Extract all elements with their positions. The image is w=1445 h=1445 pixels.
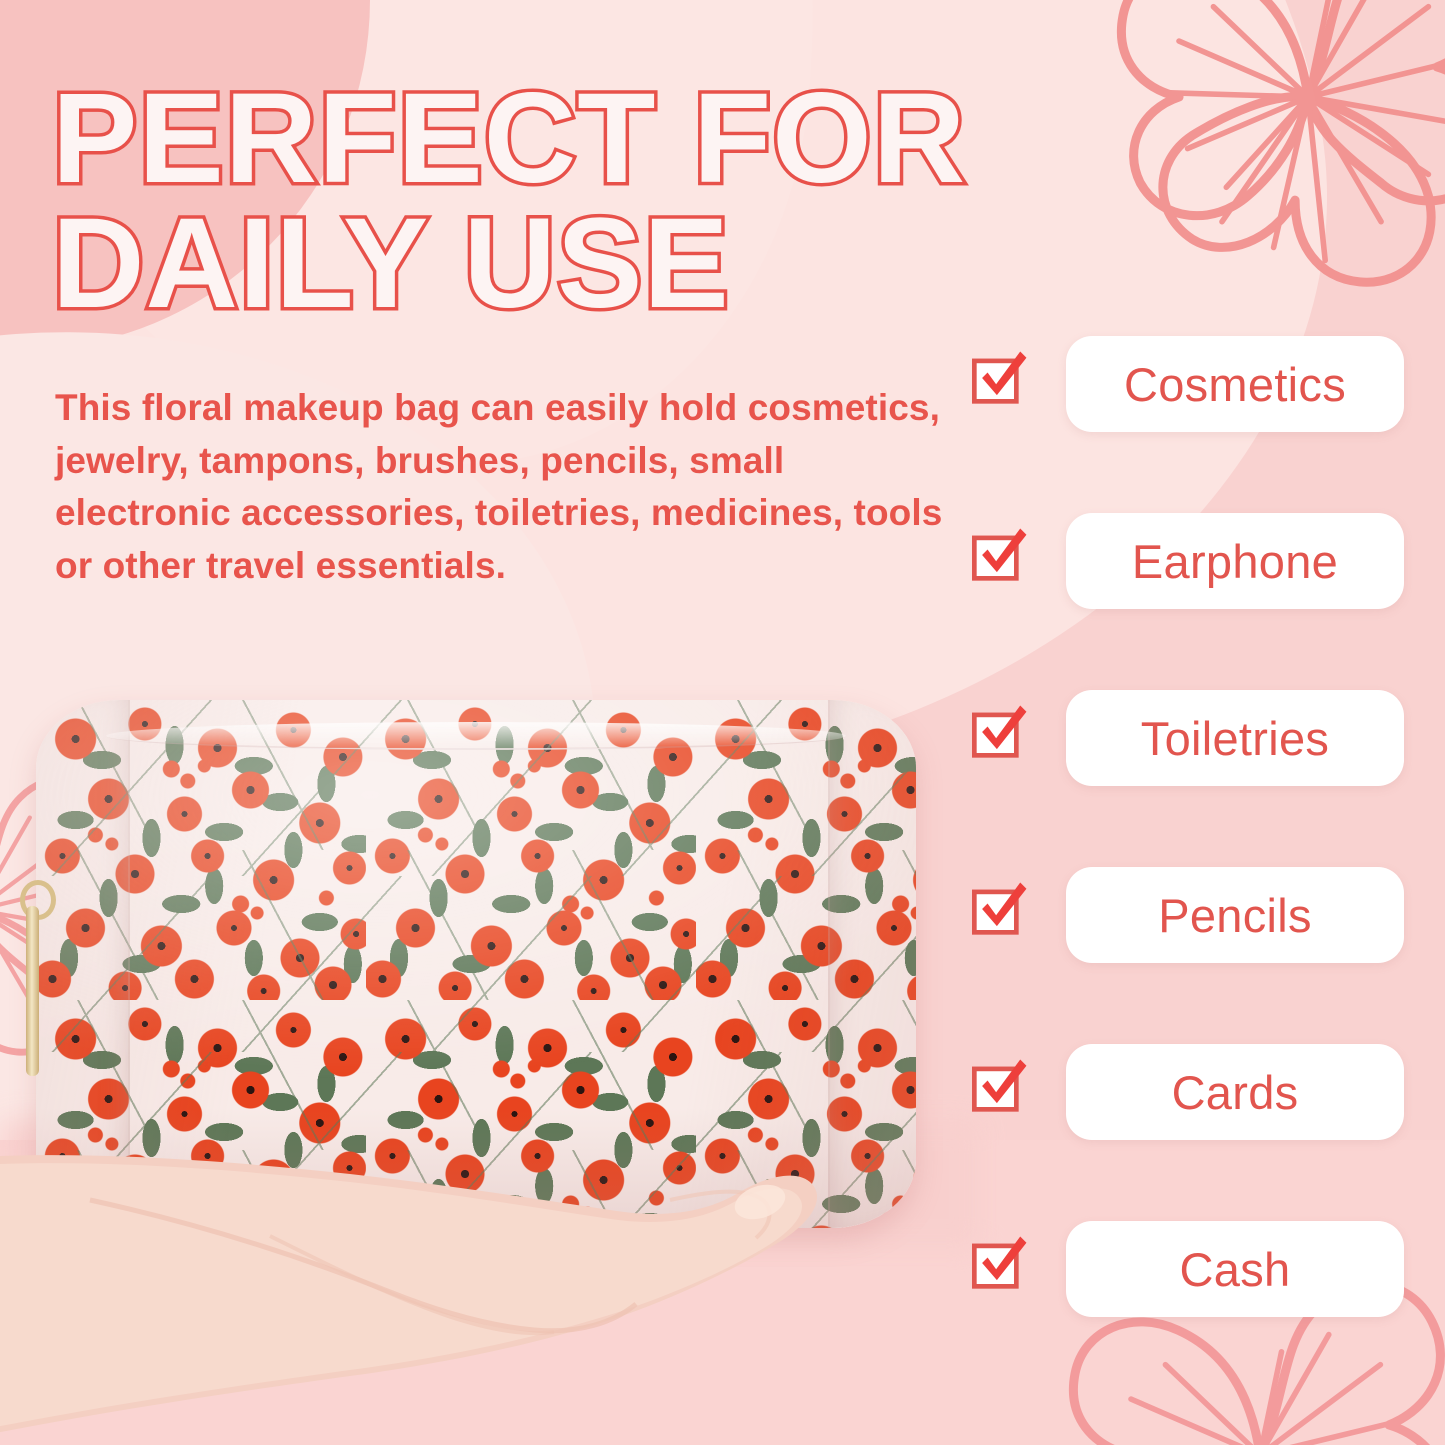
checklist-item[interactable]: Toiletries xyxy=(962,690,1412,867)
checklist-item-pill[interactable]: Toiletries xyxy=(1066,690,1404,786)
checklist-item-label: Pencils xyxy=(1158,892,1312,939)
product-description: This floral makeup bag can easily hold c… xyxy=(55,382,960,592)
zipper-tab xyxy=(26,906,39,1076)
checklist-item-label: Earphone xyxy=(1132,538,1338,585)
checklist-item[interactable]: Pencils xyxy=(962,867,1412,1044)
checklist-item-label: Cards xyxy=(1172,1069,1299,1116)
checklist-item-pill[interactable]: Cards xyxy=(1066,1044,1404,1140)
checklist-item-pill[interactable]: Cash xyxy=(1066,1221,1404,1317)
checkbox-checked-icon[interactable] xyxy=(972,1235,1028,1291)
checkbox-checked-icon[interactable] xyxy=(972,350,1028,406)
checkbox-checked-icon[interactable] xyxy=(972,704,1028,760)
checklist-item-pill[interactable]: Cosmetics xyxy=(1066,336,1404,432)
feature-checklist: Cosmetics Earphone Toiletr xyxy=(962,336,1412,1398)
checklist-item[interactable]: Cards xyxy=(962,1044,1412,1221)
checklist-item-pill[interactable]: Earphone xyxy=(1066,513,1404,609)
zipper-pull-icon xyxy=(14,880,48,1085)
checklist-item-label: Cash xyxy=(1180,1246,1291,1293)
checkbox-checked-icon[interactable] xyxy=(972,881,1028,937)
checklist-item[interactable]: Cash xyxy=(962,1221,1412,1398)
page-title: PERFECT FOR DAILY USE xyxy=(52,76,992,327)
checklist-item[interactable]: Earphone xyxy=(962,513,1412,690)
checkbox-checked-icon[interactable] xyxy=(972,1058,1028,1114)
checklist-item[interactable]: Cosmetics xyxy=(962,336,1412,513)
product-feature-banner: PERFECT FOR DAILY USE This floral makeup… xyxy=(0,0,1445,1445)
checklist-item-label: Cosmetics xyxy=(1124,361,1346,408)
open-hand-icon xyxy=(0,1140,830,1445)
checklist-item-pill[interactable]: Pencils xyxy=(1066,867,1404,963)
checklist-item-label: Toiletries xyxy=(1141,715,1329,762)
checkbox-checked-icon[interactable] xyxy=(972,527,1028,583)
